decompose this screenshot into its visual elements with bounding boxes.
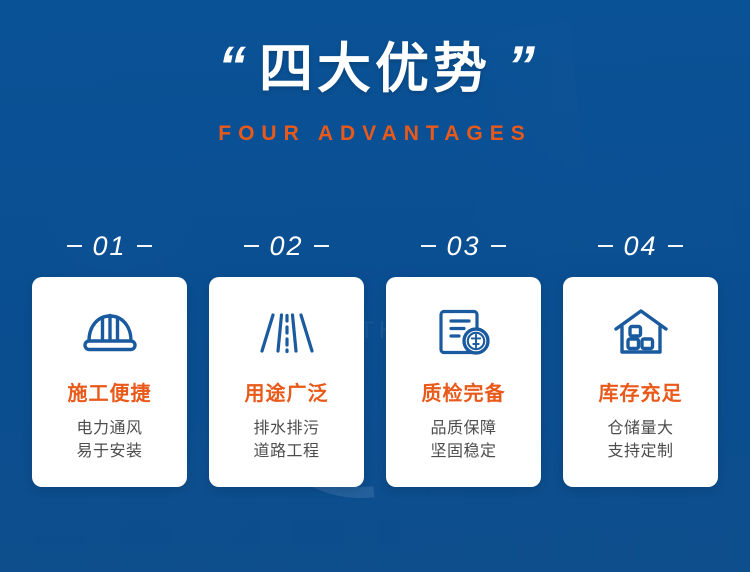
quote-close-mark: ”: [507, 46, 532, 86]
dash-left-icon: [67, 245, 82, 247]
card-number-04: 04: [598, 225, 682, 267]
dash-right-icon: [137, 245, 152, 247]
card-description-02: 排水排污 道路工程: [253, 417, 319, 463]
dash-right-icon: [491, 245, 506, 247]
advantage-column-04: 04 库存充足 仓储量大 支持定制: [563, 225, 718, 487]
card-desc-line-1: 电力通风: [76, 417, 142, 440]
card-number-label: 01: [92, 231, 126, 262]
card-desc-line-1: 仓储量大: [607, 417, 673, 440]
card-desc-line-2: 支持定制: [607, 440, 673, 463]
advantage-card-02[interactable]: 用途广泛 排水排污 道路工程: [209, 277, 364, 487]
dash-right-icon: [668, 245, 683, 247]
advantage-column-02: 02 用途广泛: [209, 225, 364, 487]
page-title: 四大优势: [259, 42, 491, 96]
title-row: “ 四大优势 ”: [0, 42, 750, 96]
page-subtitle: FOUR ADVANTAGES: [0, 122, 750, 146]
advantage-card-04[interactable]: 库存充足 仓储量大 支持定制: [563, 277, 718, 487]
card-desc-line-2: 坚固稳定: [430, 440, 496, 463]
card-number-label: 03: [446, 231, 480, 262]
card-title-03: 质检完备: [422, 377, 506, 406]
advantage-card-grid: 01 施工便捷 电力通风 易于安装: [32, 225, 718, 487]
card-number-label: 04: [623, 231, 657, 262]
card-description-03: 品质保障 坚固稳定: [430, 417, 496, 463]
card-description-04: 仓储量大 支持定制: [607, 417, 673, 463]
dash-left-icon: [244, 245, 259, 247]
card-number-02: 02: [244, 225, 328, 267]
dash-right-icon: [314, 245, 329, 247]
advantage-card-01[interactable]: 施工便捷 电力通风 易于安装: [32, 277, 187, 487]
card-title-04: 库存充足: [599, 377, 683, 406]
card-number-03: 03: [421, 225, 505, 267]
card-number-label: 02: [269, 231, 303, 262]
warehouse-icon: [611, 289, 671, 375]
dash-left-icon: [598, 245, 613, 247]
card-desc-line-2: 易于安装: [76, 440, 142, 463]
quote-open-mark: “: [218, 46, 243, 86]
card-desc-line-1: 排水排污: [253, 417, 319, 440]
inspection-document-icon: [435, 289, 493, 375]
hard-hat-icon: [79, 289, 141, 375]
banner-header: “ 四大优势 ” FOUR ADVANTAGES: [0, 0, 750, 146]
advantage-card-03[interactable]: 质检完备 品质保障 坚固稳定: [386, 277, 541, 487]
road-icon: [258, 289, 316, 375]
card-description-01: 电力通风 易于安装: [76, 417, 142, 463]
card-title-01: 施工便捷: [68, 377, 152, 406]
dash-left-icon: [421, 245, 436, 247]
advantage-column-03: 03 质检完备: [386, 225, 541, 487]
advantages-banner: 征通 RING THROUGH “ 四大优势 ” FOUR ADVANTAGES…: [0, 0, 750, 572]
card-desc-line-1: 品质保障: [430, 417, 496, 440]
card-number-01: 01: [67, 225, 151, 267]
advantage-column-01: 01 施工便捷 电力通风 易于安装: [32, 225, 187, 487]
card-desc-line-2: 道路工程: [253, 440, 319, 463]
card-title-02: 用途广泛: [245, 377, 329, 406]
